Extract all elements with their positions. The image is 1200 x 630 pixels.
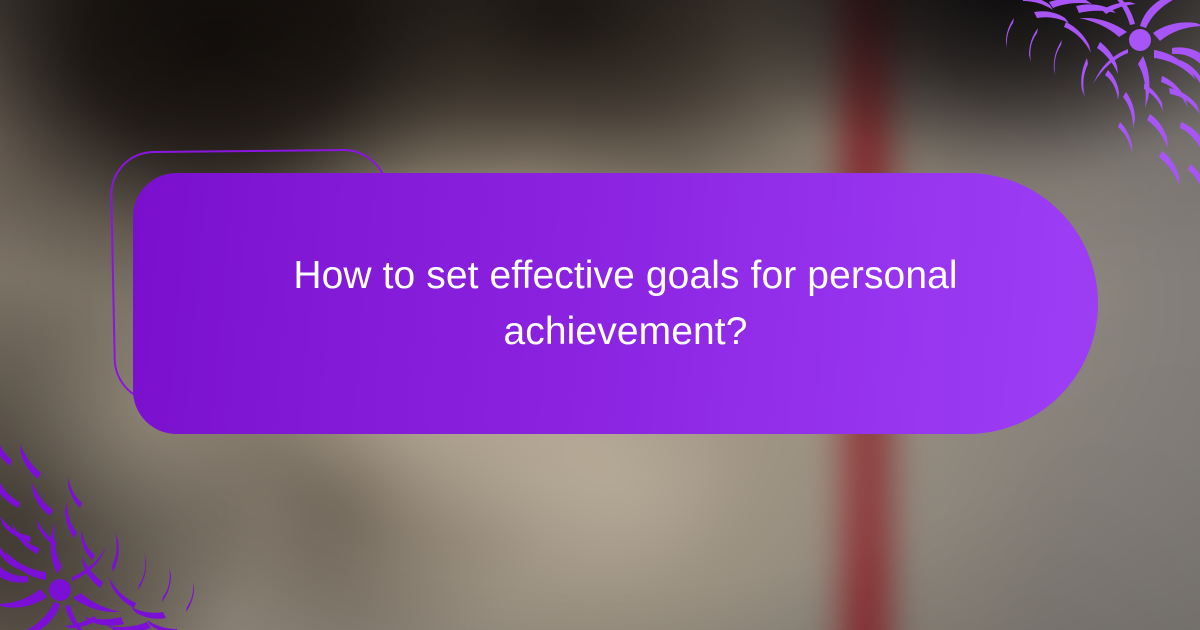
title-card[interactable]: How to set effective goals for personal …: [133, 173, 1098, 434]
social-share-card: How to set effective goals for personal …: [0, 0, 1200, 630]
page-title: How to set effective goals for personal …: [293, 248, 957, 360]
